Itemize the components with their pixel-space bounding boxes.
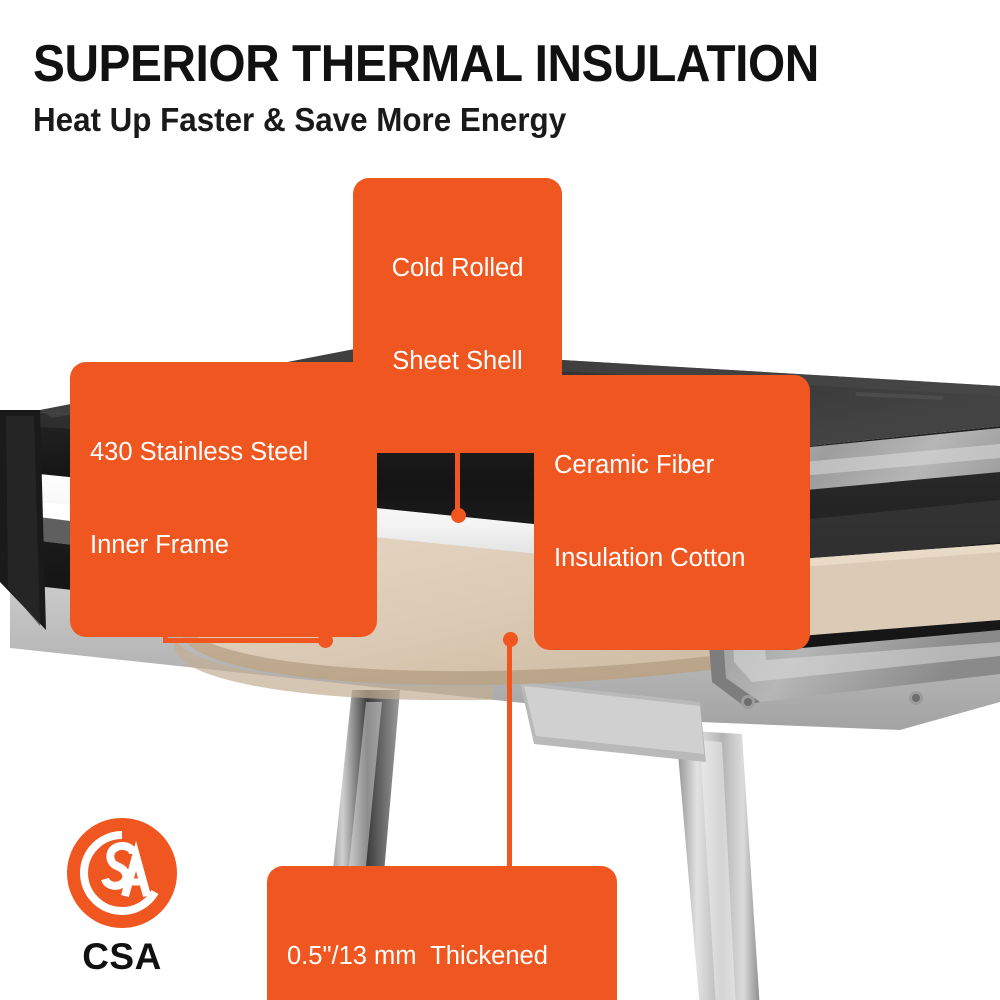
shell-left-chamfer (0, 410, 46, 630)
csa-label: CSA (47, 936, 197, 978)
callout-line-2: Sheet Shell (373, 346, 542, 377)
page-subtitle: Heat Up Faster & Save More Energy (33, 103, 566, 136)
callout-line-1: Cold Rolled (373, 253, 542, 284)
csa-monogram-icon (67, 818, 177, 928)
callout-line-1: 430 Stainless Steel (90, 437, 357, 468)
leader-line-stone (507, 640, 512, 870)
pizza-stone-in-mouth (786, 544, 1000, 636)
leader-dot-stone (503, 632, 518, 647)
callout-cordierite-pizza-stone[interactable]: 0.5"/13 mm Thickened Cordierite Pizza St… (267, 866, 617, 1000)
callout-ceramic-fiber-insulation-cotton[interactable]: Ceramic Fiber Insulation Cotton (534, 375, 810, 650)
callout-line-2: Insulation Cotton (554, 543, 790, 574)
callout-line-1: 0.5"/13 mm Thickened (287, 941, 597, 972)
leader-line-frame-horizontal (163, 638, 328, 643)
infographic-canvas: SUPERIOR THERMAL INSULATION Heat Up Fast… (0, 0, 1000, 1000)
leader-dot-shell (451, 508, 466, 523)
page-title: SUPERIOR THERMAL INSULATION (33, 38, 819, 90)
callout-stainless-steel-inner-frame[interactable]: 430 Stainless Steel Inner Frame (70, 362, 377, 637)
callout-cold-rolled-sheet-shell[interactable]: Cold Rolled Sheet Shell (353, 178, 562, 453)
callout-line-1: Ceramic Fiber (554, 450, 790, 481)
csa-certification: CSA (47, 818, 197, 978)
callout-line-2: Inner Frame (90, 530, 357, 561)
